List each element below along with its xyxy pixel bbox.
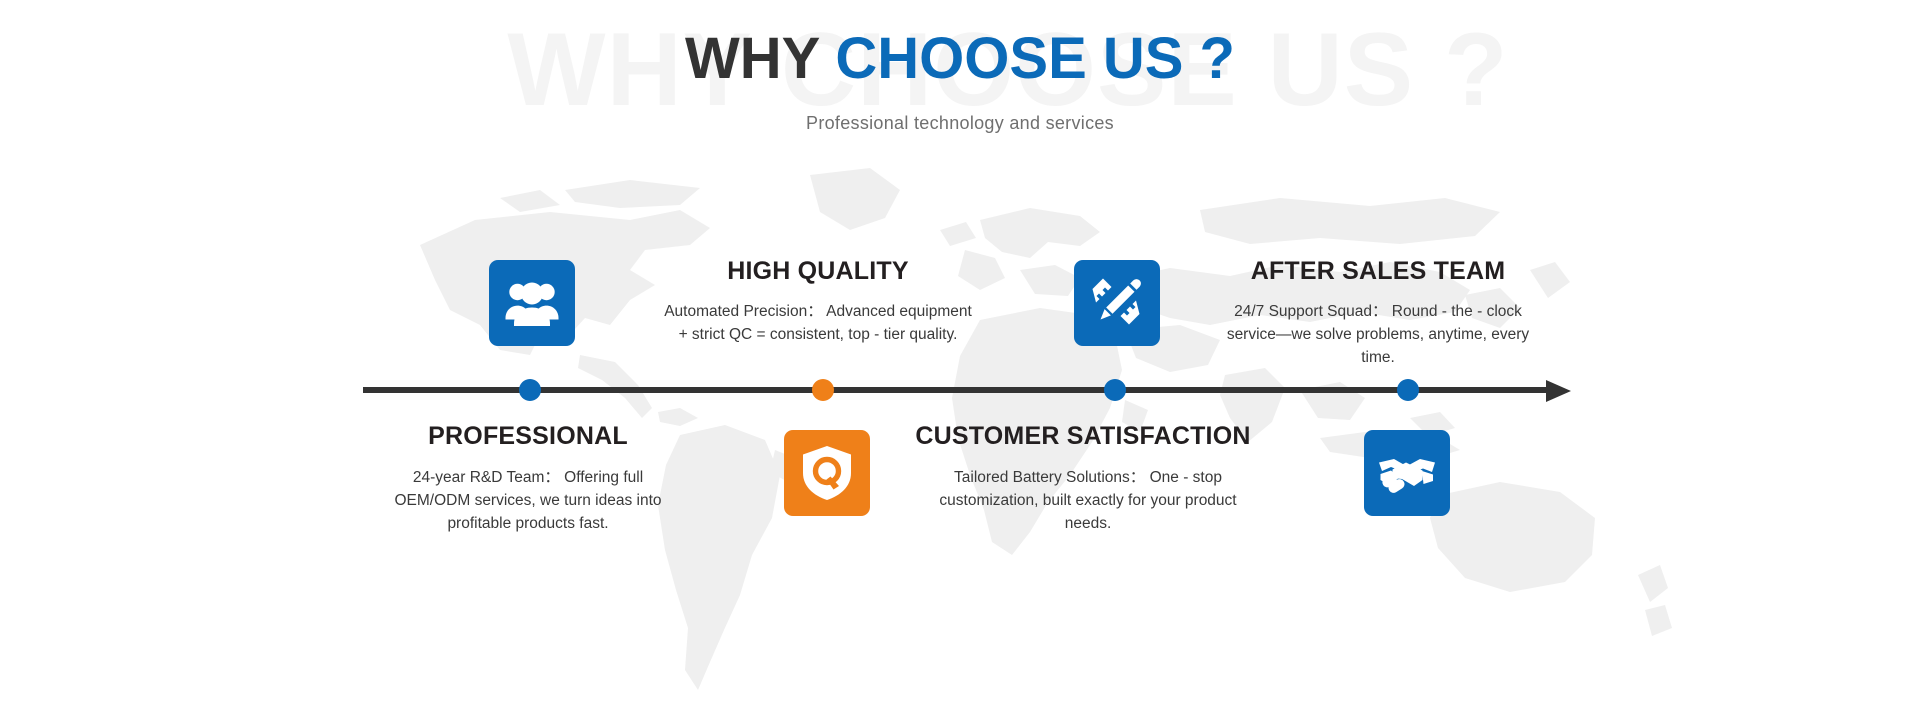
pencil-ruler-icon-tile[interactable] [1074,260,1160,346]
feature-professional: PROFESSIONAL 24-year R&D Team： Offering … [373,423,683,535]
handshake-icon-tile[interactable] [1364,430,1450,516]
header: WHY CHOOSE US ? WHY CHOOSE US ? Professi… [0,0,1920,150]
feature-description-professional: 24-year R&D Team： Offering full OEM/ODM … [373,466,683,536]
page-title: WHY CHOOSE US ? [0,30,1920,88]
timeline-dot-1[interactable] [519,379,541,401]
timeline [363,380,1583,402]
feature-description-high-quality: Automated Precision： Advanced equipment … [663,300,973,347]
page-subtitle: Professional technology and services [0,113,1920,134]
pencil-ruler-icon [1090,276,1144,330]
handshake-icon [1378,450,1436,496]
why-choose-us-infographic: WHY CHOOSE US ? WHY CHOOSE US ? Professi… [0,0,1920,725]
feature-description-after-sales-team: 24/7 Support Squad： Round - the - clock … [1223,300,1533,370]
people-icon-tile[interactable] [489,260,575,346]
timeline-line [363,387,1553,393]
timeline-arrow-icon [1546,380,1571,402]
timeline-dot-3[interactable] [1104,379,1126,401]
page-title-part-blue: CHOOSE US ? [835,26,1235,91]
feature-title-after-sales-team: AFTER SALES TEAM [1223,258,1533,286]
feature-after-sales-team: AFTER SALES TEAM 24/7 Support Squad： Rou… [1223,258,1533,369]
feature-title-customer-satisfaction: CUSTOMER SATISFACTION [913,423,1253,451]
feature-title-professional: PROFESSIONAL [373,423,683,451]
timeline-dot-4[interactable] [1397,379,1419,401]
feature-customer-satisfaction: CUSTOMER SATISFACTION Tailored Battery S… [933,423,1243,535]
shield-quality-icon [801,445,853,501]
page-title-part-dark: WHY [685,26,835,91]
timeline-dot-2[interactable] [812,379,834,401]
feature-description-customer-satisfaction: Tailored Battery Solutions： One - stop c… [933,466,1243,536]
feature-high-quality: HIGH QUALITY Automated Precision： Advanc… [663,258,973,346]
people-icon [504,279,560,327]
feature-title-high-quality: HIGH QUALITY [663,258,973,286]
shield-quality-icon-tile[interactable] [784,430,870,516]
